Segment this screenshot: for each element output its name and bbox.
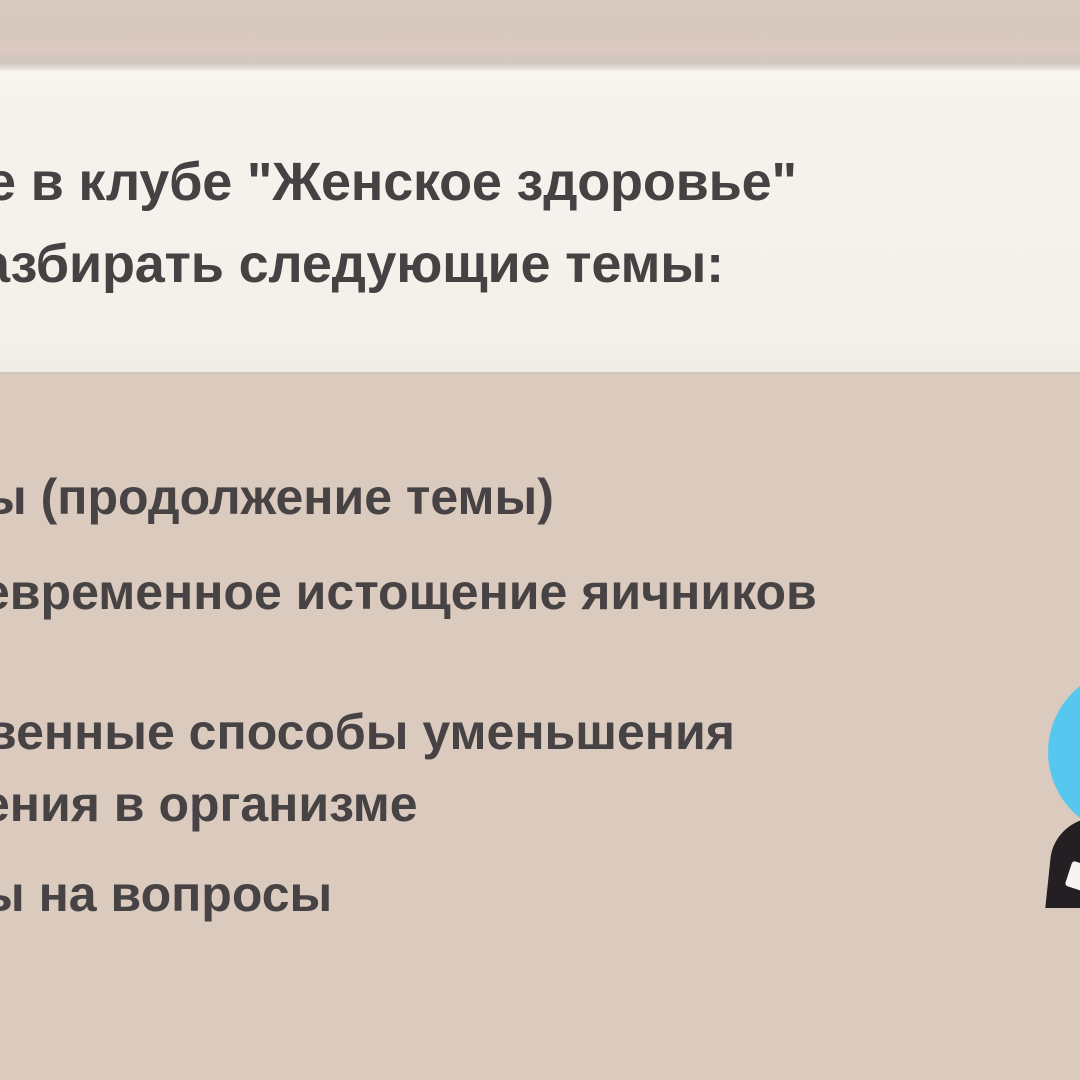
slide-canvas: е в клубе "Женское здоровье" азбирать сл… — [0, 0, 1080, 1080]
topics-top-rule — [0, 372, 1080, 375]
heading-card: е в клубе "Женское здоровье" азбирать сл… — [0, 69, 1080, 372]
heading-block: е в клубе "Женское здоровье" азбирать сл… — [0, 141, 1080, 305]
list-item: ения в организме — [0, 774, 418, 834]
heading-line-2: азбирать следующие темы: — [0, 223, 1080, 305]
list-item: ы на вопросы — [0, 864, 332, 924]
top-decorative-band — [0, 0, 1080, 69]
list-item: венные способы уменьшения — [0, 702, 735, 762]
card-top-rule — [0, 69, 1080, 71]
heading-line-1: е в клубе "Женское здоровье" — [0, 141, 1080, 223]
list-item: евременное истощение яичников — [0, 562, 817, 622]
list-item: ы (продолжение темы) — [0, 467, 554, 527]
topics-section: ы (продолжение темы) евременное истощени… — [0, 372, 1080, 1080]
